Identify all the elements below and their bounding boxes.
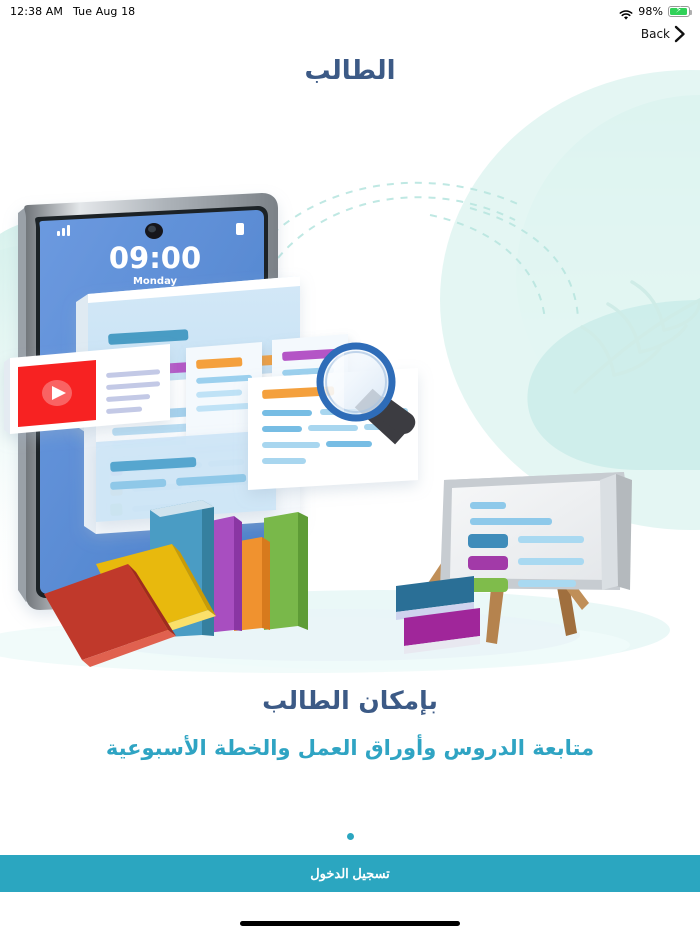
status-date: Tue Aug 18 (73, 5, 135, 18)
status-bar-right: 98% ⚡ (619, 5, 690, 18)
back-button[interactable]: Back (641, 25, 686, 43)
student-learning-illustration: 09:00 Monday (0, 90, 700, 670)
headline: بإمكان الطالب (0, 686, 700, 715)
chevron-right-icon (674, 25, 686, 43)
book-orange-spine (262, 537, 270, 630)
wifi-icon (619, 6, 633, 17)
page-title: الطالب (0, 56, 700, 86)
phone-battery-icon (236, 223, 244, 235)
video-thumbnail-card (4, 344, 170, 434)
back-button-label: Back (641, 27, 670, 41)
subheadline: متابعة الدروس وأوراق العمل والخطة الأسبو… (0, 736, 700, 760)
battery-percent: 98% (638, 5, 663, 18)
status-time: 12:38 AM (10, 5, 63, 18)
login-button[interactable]: تسجيل الدخول (0, 855, 700, 892)
onboarding-screen: 12:38 AM Tue Aug 18 98% ⚡ Back (0, 0, 700, 934)
illustration-svg: 09:00 Monday (0, 90, 700, 670)
flat-book-stack (396, 576, 480, 654)
page-indicator[interactable] (0, 833, 700, 840)
home-indicator[interactable] (240, 921, 460, 926)
phone-clock-time: 09:00 (109, 241, 201, 275)
page-dot-active[interactable] (347, 833, 354, 840)
status-bar: 12:38 AM Tue Aug 18 98% ⚡ (0, 0, 700, 22)
book-purple-spine (234, 516, 242, 631)
phone-clock-day: Monday (133, 276, 178, 287)
status-bar-left: 12:38 AM Tue Aug 18 (10, 5, 135, 18)
battery-charging-icon: ⚡ (668, 6, 690, 17)
book-green-spine (298, 512, 308, 630)
